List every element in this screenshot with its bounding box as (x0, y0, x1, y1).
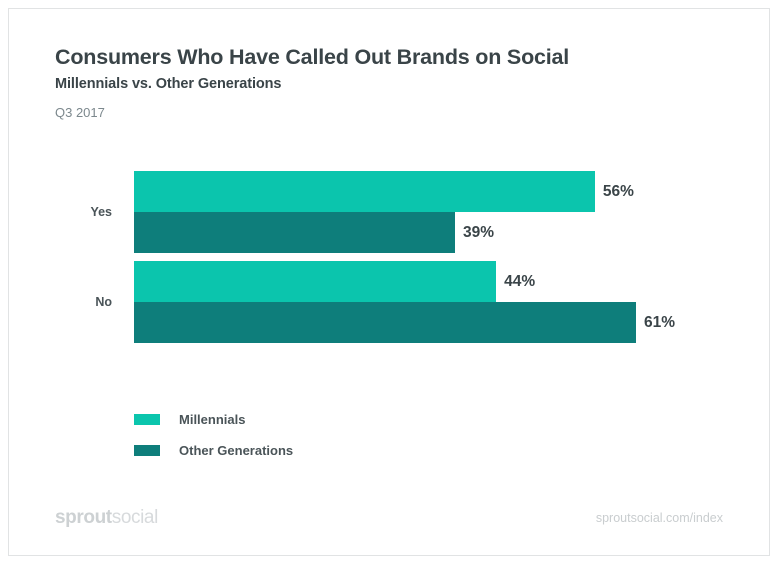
page-title: Consumers Who Have Called Out Brands on … (55, 45, 715, 70)
bar-yes-millennials[interactable] (134, 171, 595, 212)
bar-value-yes-other-generations: 39% (463, 224, 494, 242)
bar-group-yes: Yes 56% 39% (55, 171, 725, 253)
footer-url: sproutsocial.com/index (596, 511, 723, 525)
category-label-yes: Yes (55, 171, 123, 253)
chart-header: Consumers Who Have Called Out Brands on … (55, 45, 715, 120)
bar-row: 39% (134, 212, 725, 253)
bar-row: 61% (134, 302, 725, 343)
category-label-no: No (55, 261, 123, 343)
legend-item-millennials[interactable]: Millennials (134, 408, 293, 430)
bar-row: 44% (134, 261, 725, 302)
bar-group-no-bars: 44% 61% (134, 261, 725, 343)
logo-text-light: social (112, 507, 158, 528)
chart-footer: sproutsocial sproutsocial.com/index (55, 507, 723, 529)
bar-yes-other-generations[interactable] (134, 212, 455, 253)
legend-swatch-icon (134, 414, 160, 425)
bar-value-no-millennials: 44% (504, 273, 535, 291)
logo-text-bold: sprout (55, 507, 112, 528)
bar-group-no: No 44% 61% (55, 261, 725, 343)
legend-label-millennials: Millennials (179, 412, 245, 427)
chart-period: Q3 2017 (55, 105, 715, 120)
sprout-social-logo: sproutsocial (55, 507, 158, 529)
chart-legend: Millennials Other Generations (134, 408, 293, 470)
bar-no-other-generations[interactable] (134, 302, 636, 343)
legend-swatch-icon (134, 445, 160, 456)
bar-value-yes-millennials: 56% (603, 183, 634, 201)
bar-value-no-other-generations: 61% (644, 314, 675, 332)
bar-no-millennials[interactable] (134, 261, 496, 302)
chart-card: Consumers Who Have Called Out Brands on … (8, 8, 770, 556)
chart-subtitle: Millennials vs. Other Generations (55, 76, 715, 92)
legend-label-other-generations: Other Generations (179, 443, 293, 458)
bar-group-yes-bars: 56% 39% (134, 171, 725, 253)
legend-item-other-generations[interactable]: Other Generations (134, 439, 293, 461)
bar-chart-plot: Yes 56% 39% No 44% (55, 171, 725, 361)
bar-row: 56% (134, 171, 725, 212)
